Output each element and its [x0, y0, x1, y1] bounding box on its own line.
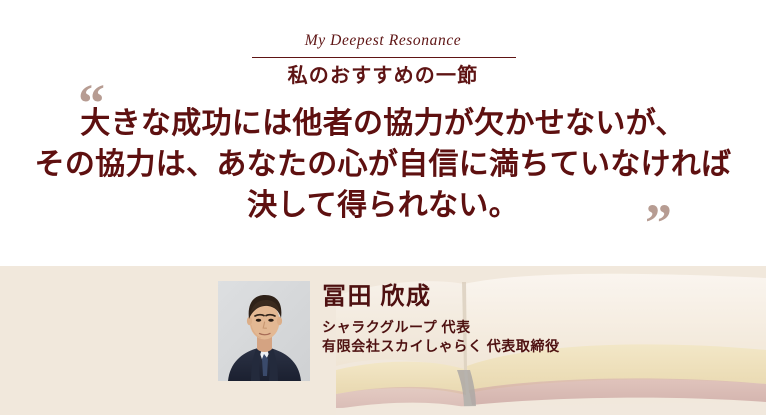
- heading-divider: [252, 57, 516, 58]
- author-band: 冨田 欣成 シャラクグループ 代表 有限会社スカイしゃらく 代表取締役: [0, 266, 766, 415]
- author-role-line: 有限会社スカイしゃらく 代表取締役: [322, 338, 560, 357]
- avatar: [218, 281, 310, 381]
- author-info: 冨田 欣成 シャラクグループ 代表 有限会社スカイしゃらく 代表取締役: [322, 284, 560, 357]
- page-title: 私のおすすめの一節: [0, 63, 766, 90]
- testimonial-card: My Deepest Resonance 私のおすすめの一節 “ 大きな成功には…: [0, 0, 766, 415]
- author-role-line: シャラクグループ 代表: [322, 319, 560, 338]
- close-quote-icon: ”: [645, 196, 672, 250]
- quote-panel: My Deepest Resonance 私のおすすめの一節 “ 大きな成功には…: [0, 0, 766, 266]
- portrait-photo: [218, 281, 310, 381]
- quote-line: 大きな成功には他者の協力が欠かせないが、: [0, 103, 766, 144]
- author-name: 冨田 欣成: [322, 284, 560, 310]
- eyebrow-heading: My Deepest Resonance: [0, 33, 766, 49]
- quote-line: その協力は、あなたの心が自信に満ちていなければ: [0, 144, 766, 185]
